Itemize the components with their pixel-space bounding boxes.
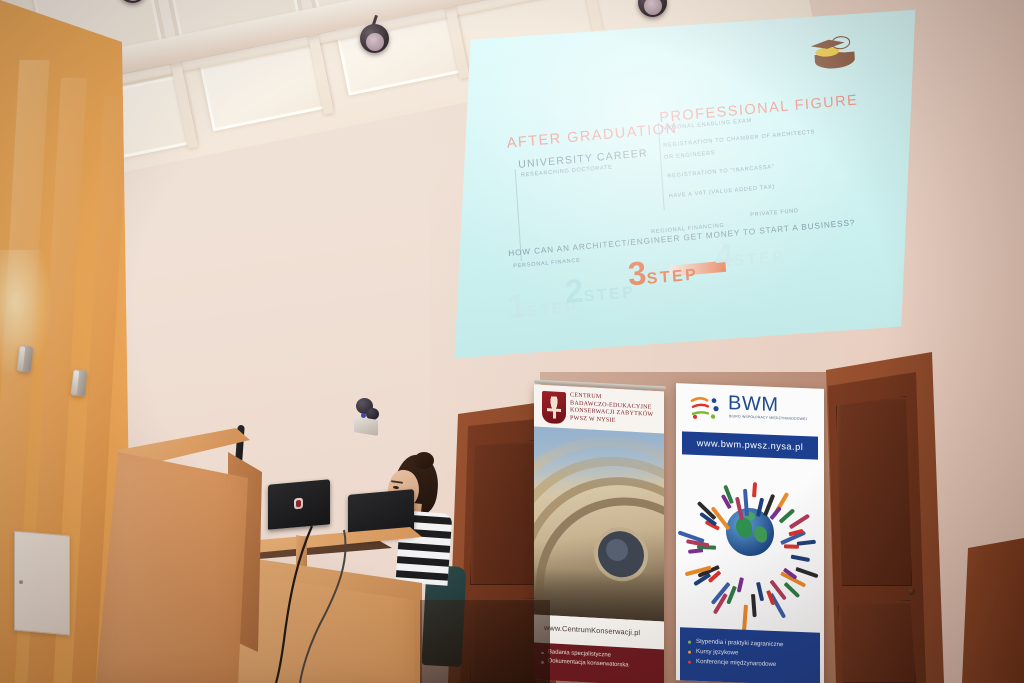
slide-item-registration-chamber: REGISTRATION TO CHAMBER OF ARCHITECTS [663,129,815,149]
rollup-banner-bwm: BWM BIURO WSPÓŁPRACY MIĘDZYNARODOWEJ www… [676,383,824,683]
person-figure [756,582,764,601]
far-right-wood-panel [962,538,1024,683]
bwm-footer-bullets: Stypendia i praktyki zagraniczne Kursy j… [680,627,820,683]
person-figure [726,586,737,605]
graduation-cap-icon [800,32,856,73]
slide-label-private-fund: PRIVATE FUND [750,208,799,218]
fleur-de-lis-crest-icon [542,391,566,424]
wall-sconce-light [17,345,34,372]
bwm-wordmark: BWM [728,392,779,417]
bwm-url-strip: www.bwm.pwsz.nysa.pl [682,431,818,459]
slide-item-registration-inarcassa: REGISTRATION TO "INARCASSA" [667,164,774,180]
wall-sconce-light [71,369,88,396]
ceiling-camera-sensor [352,398,382,440]
bwm-swirl-icon [690,395,724,422]
person-figure [797,540,816,546]
door-handle-icon[interactable] [908,588,915,595]
person-figure [742,604,748,631]
person-figure [687,548,702,554]
bwm-logo-subtitle: BIURO WSPÓŁPRACY MIĘDZYNARODOWEJ [729,414,807,421]
person-figure [789,514,810,530]
person-figure [779,508,796,523]
person-figure [743,489,749,516]
banner-organization-name: CENTRUM BADAWCZO-EDUKACYJNE KONSERWACJI … [570,392,662,427]
door-panel-lower [838,600,916,683]
wall-access-panel [14,531,70,636]
slide-item-or-engineers: OR ENGINEERS [664,150,716,161]
people-ring [688,466,812,471]
presentation-slide: AFTER GRADUATION PROFESSIONAL FIGURE UNI… [441,0,931,380]
slide-item-have-vat: HAVE A VAT (VALUE ADDED TAX) [669,184,776,199]
person-figure [795,567,818,578]
bwm-logo: BWM BIURO WSPÓŁPRACY MIĘDZYNARODOWEJ [690,391,812,430]
door-panel-upper [470,440,536,585]
banner-footer-bullets: Badania specjalistyczne Dokumentacja kon… [534,642,664,683]
globe-people-illustration [688,466,812,601]
slide-heading-professional-figure: PROFESSIONAL FIGURE [659,92,859,126]
lecture-hall-photo: AFTER GRADUATION PROFESSIONAL FIGURE UNI… [0,0,1024,683]
person-figure [752,482,757,497]
rollup-banner-centrum: CENTRUM BADAWCZO-EDUKACYJNE KONSERWACJI … [534,384,664,683]
panel-knob [19,580,23,584]
step-2: 2STEP [564,269,636,308]
step-3-active: 3STEP [627,251,699,290]
banner-url-text: www.CentrumKonserwacji.pl [544,623,640,637]
person-figure [737,577,744,593]
person-figure [751,594,757,617]
banner-header: CENTRUM BADAWCZO-EDUKACYJNE KONSERWACJI … [534,384,664,433]
door-panel-upper [836,396,912,586]
slide-heading-after-graduation: AFTER GRADUATION [506,121,678,152]
banner-cathedral-photo [534,426,664,621]
lectern-front: Nysa [96,440,248,683]
floor-shadow [420,600,550,683]
projection-screen: AFTER GRADUATION PROFESSIONAL FIGURE UNI… [452,8,920,360]
step-4: 4STEP [714,234,786,273]
person-figure [790,555,809,562]
bwm-url-text: www.bwm.pwsz.nysa.pl [682,437,818,452]
presenter-hair-bun [414,452,434,469]
